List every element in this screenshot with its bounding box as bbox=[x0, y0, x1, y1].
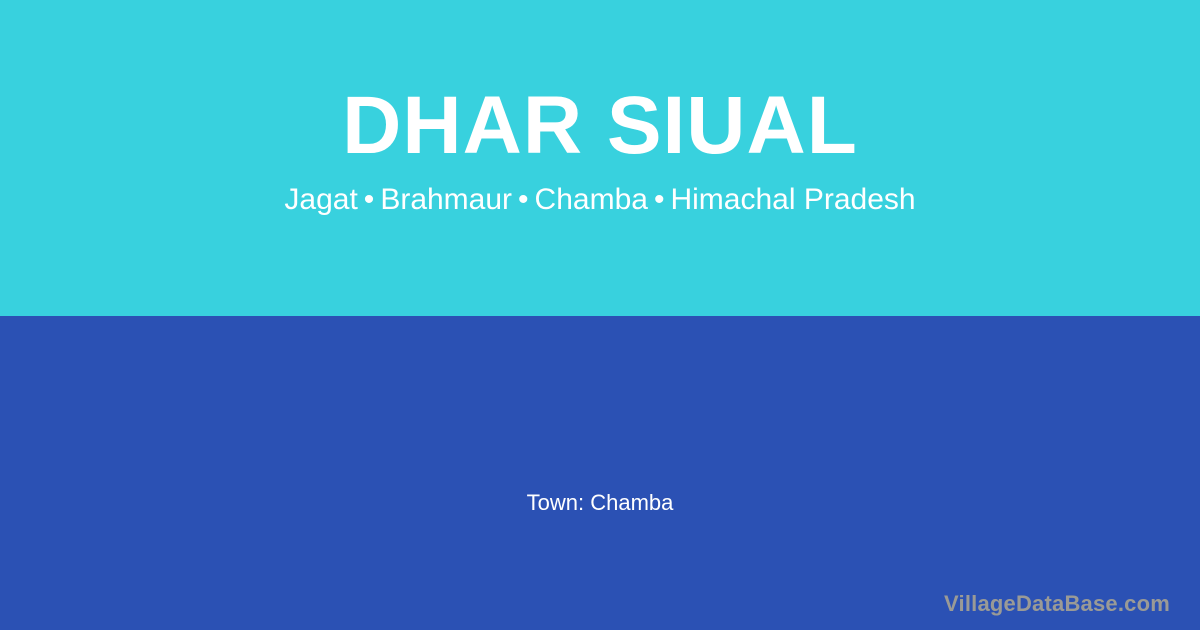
breadcrumb-separator-1: • bbox=[358, 183, 381, 216]
body-band: Town: Chamba VillageDataBase.com bbox=[0, 316, 1200, 630]
breadcrumb: Jagat•Brahmaur•Chamba•Himachal Pradesh bbox=[0, 180, 1200, 220]
site-watermark: VillageDataBase.com bbox=[944, 590, 1170, 618]
breadcrumb-separator-2: • bbox=[512, 183, 535, 216]
header-band: DHAR SIUAL Jagat•Brahmaur•Chamba•Himacha… bbox=[0, 0, 1200, 316]
breadcrumb-item-district: Chamba bbox=[535, 183, 648, 216]
breadcrumb-separator-3: • bbox=[648, 183, 671, 216]
breadcrumb-item-state: Himachal Pradesh bbox=[670, 183, 915, 216]
breadcrumb-item-village: Jagat bbox=[284, 183, 357, 216]
breadcrumb-item-block: Brahmaur bbox=[380, 183, 512, 216]
page-title: DHAR SIUAL bbox=[0, 78, 1200, 174]
village-info-card: DHAR SIUAL Jagat•Brahmaur•Chamba•Himacha… bbox=[0, 0, 1200, 630]
town-detail: Town: Chamba bbox=[0, 488, 1200, 518]
